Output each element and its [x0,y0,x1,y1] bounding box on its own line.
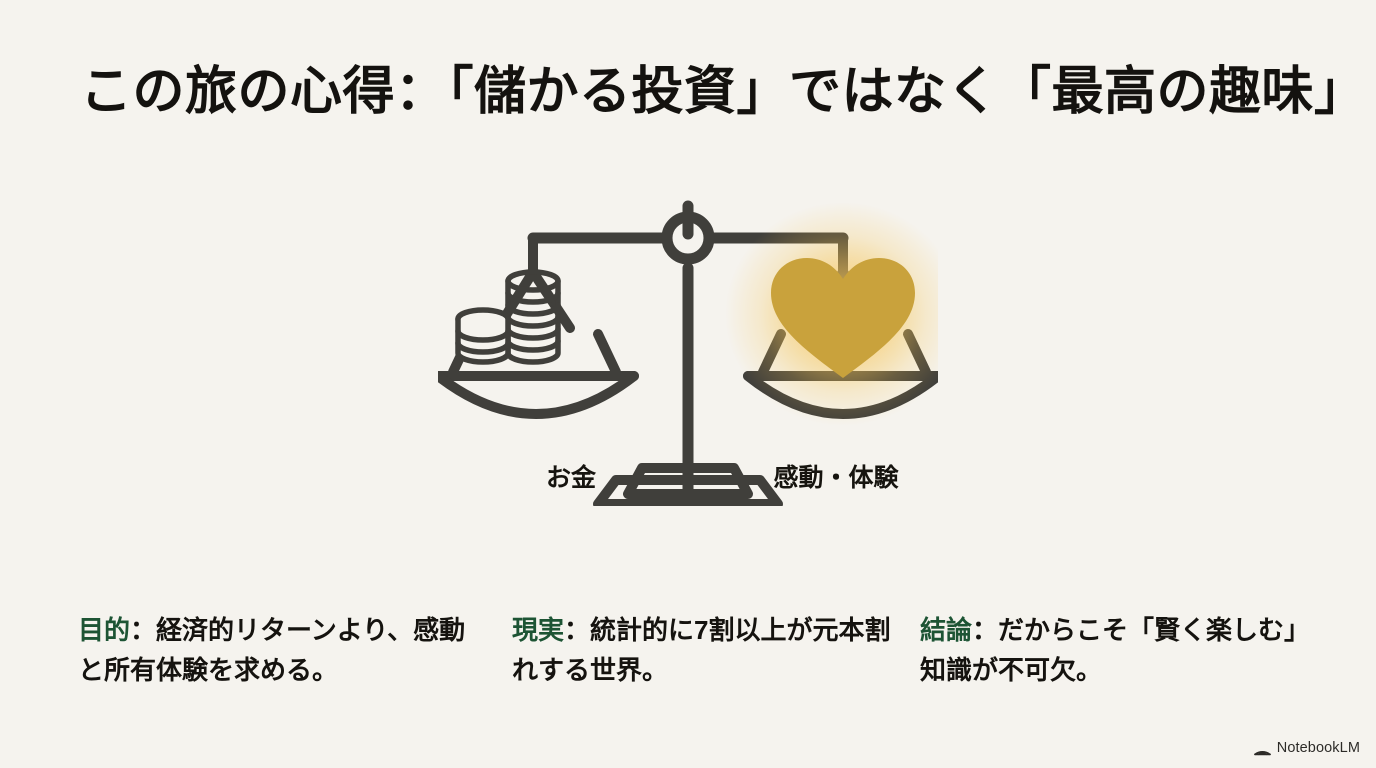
column-separator: ： [130,615,156,645]
page-title: この旅の心得：「儲かる投資」ではなく「最高の趣味」 [80,62,1330,123]
coin-rim-b4 [508,329,558,338]
column-tag: 目的 [78,615,130,645]
column-tag: 結論 [920,615,972,645]
column-tag: 現実 [512,615,564,645]
coin-rim-b5 [508,341,558,350]
notebooklm-label: NotebookLM [1277,740,1360,756]
notebooklm-watermark: NotebookLM [1254,740,1360,756]
balance-scale-graphic [438,176,938,506]
slide-canvas: この旅の心得：「儲かる投資」ではなく「最高の趣味」 [0,0,1376,768]
summary-column-reality: 現実：統計的に7割以上が元本割れする世界。 [512,610,894,691]
pan-label-money: お金 [476,458,666,494]
notebooklm-logo-icon [1254,741,1271,756]
summary-column-purpose: 目的：経済的リターンより、感動と所有体験を求める。 [78,610,470,691]
column-separator: ： [564,615,590,645]
column-separator: ： [972,615,998,645]
scale-left-pan-bowl [438,376,634,414]
scale-left-chain-b [598,334,616,372]
pan-label-experience: 感動・体験 [706,458,966,494]
summary-column-conclusion: 結論：だからこそ「賢く楽しむ」知識が不可欠。 [920,610,1312,691]
balance-scale-illustration [438,176,938,506]
coin-rim-b3 [508,317,558,326]
